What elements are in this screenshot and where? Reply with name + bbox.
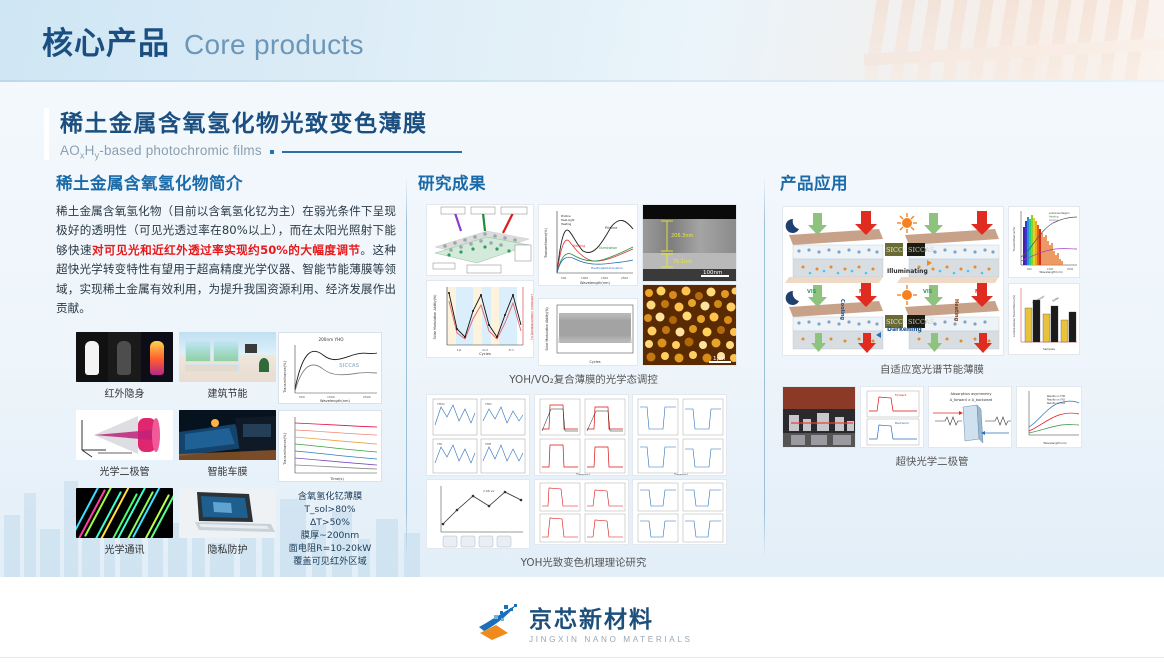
optical-communication-thumb — [76, 488, 173, 538]
svg-text:76.1nm: 76.1nm — [673, 259, 692, 265]
crystal-structure-schematic[interactable] — [426, 204, 534, 276]
svg-text:Time(ps): Time(ps) — [575, 473, 590, 476]
svg-text:2nd: 2nd — [482, 348, 488, 352]
svg-text:1st: 1st — [457, 348, 462, 352]
section-subtitle-row: AOxHy-based photochromic films — [60, 143, 462, 161]
svg-text:1μm: 1μm — [713, 356, 725, 362]
thumbnail-caption: 光学二极管 — [76, 460, 173, 485]
svg-text:NIR: NIR — [975, 289, 985, 295]
afm-surface-image[interactable]: 1μm — [642, 284, 737, 366]
svg-text:Forward: Forward — [895, 393, 906, 397]
svg-text:1500: 1500 — [1047, 268, 1054, 271]
application-figure-group: SICCAS SICCAS SICCAS SICCAS — [782, 206, 1082, 468]
forward-backward-signal-plot[interactable]: Forward Backward — [860, 386, 924, 448]
svg-text:SICCAS: SICCAS — [908, 246, 934, 254]
svg-text:Darkening: Darkening — [887, 326, 922, 333]
thumbnail-caption: 红外隐身 — [76, 382, 173, 407]
svg-text:1000: 1000 — [581, 276, 588, 280]
thumbnail-cell[interactable]: 光学二极管 — [76, 410, 173, 485]
svg-text:1500: 1500 — [601, 276, 608, 280]
svg-text:Cooling: Cooling — [839, 299, 845, 321]
svg-text:2500: 2500 — [621, 276, 628, 280]
thumbnail-caption: 光学通讯 — [76, 538, 173, 563]
experimental-setup-photo[interactable] — [782, 386, 856, 448]
application-thumbnail-grid: 红外隐身 建筑节能 — [76, 332, 276, 566]
svg-text:Luminous Transmittance(%): Luminous Transmittance(%) — [530, 294, 534, 340]
svg-text:YHO: YHO — [485, 402, 492, 406]
column-divider-2 — [764, 176, 765, 558]
defect-formation-energy-plot[interactable]: 2.68 eV — [426, 479, 530, 549]
svg-text:Transmittance(%): Transmittance(%) — [1012, 227, 1016, 253]
atomic-model-diagram[interactable] — [632, 479, 727, 545]
svg-text:VIS: VIS — [923, 289, 933, 295]
research-figure-1-caption: YOH/VO₂复合薄膜的光学态调控 — [426, 371, 741, 386]
svg-text:3rd: 3rd — [509, 348, 514, 352]
svg-text:Wavelength(nm): Wavelength(nm) — [1043, 441, 1066, 445]
privacy-protection-thumb — [179, 488, 276, 538]
application-figure-2-caption: 超快光学二极管 — [782, 453, 1082, 468]
column-product-applications: 产品应用 — [780, 170, 1130, 194]
page-title-en: Core products — [184, 29, 364, 61]
paragraph-highlight: 对可见光和近红外透过率实现约50%的大幅度调节 — [92, 243, 360, 257]
application-figure-1-caption: 自适应宽光谱节能薄膜 — [782, 361, 1082, 376]
spec-line: 面电阻R=10-20kW — [278, 542, 382, 555]
absorption-asymmetry-schematic[interactable]: Absorption asymmetry A_forward ≠ A_backw… — [928, 386, 1012, 448]
svg-text:YH₃: YH₃ — [437, 442, 443, 446]
svg-text:Transmittance(%): Transmittance(%) — [544, 227, 548, 259]
logo-name-en: JINGXIN NANO MATERIALS — [529, 635, 693, 644]
slide-header: 核心产品 Core products — [0, 0, 1164, 82]
sem-cross-section-image[interactable]: 206.3nm 76.1nm 100nm — [642, 204, 737, 282]
svg-text:206.3nm: 206.3nm — [671, 233, 693, 239]
asymmetry-spectrum-plot[interactable]: Results on YHO Results on YH2 Results on… — [1016, 386, 1082, 448]
svg-text:Heating: Heating — [561, 222, 572, 226]
svg-text:YOH: YOH — [485, 442, 491, 446]
svg-text:500: 500 — [1027, 268, 1032, 271]
spec-line: 含氧氢化钇薄膜 — [278, 490, 382, 503]
research-figure-group: Solar Modulation Ability(%) Luminous Tra… — [426, 204, 741, 569]
svg-text:200nm YHO: 200nm YHO — [318, 337, 344, 342]
thumbnail-caption: 智能车膜 — [179, 460, 276, 485]
section-accent-bar — [44, 108, 49, 160]
column-divider-1 — [406, 176, 407, 558]
footer-divider — [0, 657, 1164, 658]
spec-line: 覆盖可见红外区域 — [278, 555, 382, 568]
svg-text:2.68 eV: 2.68 eV — [483, 489, 495, 493]
thumbnail-cell[interactable]: 隐私防护 — [179, 488, 276, 563]
section-title-en: AOxHy-based photochromic films — [60, 143, 262, 161]
long-term-cycling-plot[interactable]: Solar Modulation Ability(%) Cycles — [538, 298, 638, 366]
thumbnail-caption: 隐私防护 — [179, 538, 276, 563]
svg-text:Cycles: Cycles — [589, 360, 600, 364]
svg-text:VIS: VIS — [807, 289, 817, 295]
svg-text:Backward: Backward — [895, 421, 909, 425]
svg-text:Time(ps): Time(ps) — [673, 473, 688, 476]
logo-text-block: 京芯新材料 JINGXIN NANO MATERIALS — [529, 600, 693, 644]
column-heading-introduction: 稀土金属含氧氢化物简介 — [56, 170, 396, 194]
smart-car-film-thumb — [179, 410, 276, 460]
svg-text:Cooling: Cooling — [1049, 219, 1058, 222]
svg-text:Heating: Heating — [573, 244, 585, 248]
column-introduction: 稀土金属含氧氢化物简介 稀土金属含氧氢化物（目前以含氧氢化钇为主）在弱光条件下呈… — [56, 170, 396, 319]
svg-text:Pristine: Pristine — [561, 214, 571, 218]
spec-line: 膜厚~200nm — [278, 529, 382, 542]
spec-line: ΔT>50% — [278, 516, 382, 529]
page-title: 核心产品 Core products — [42, 18, 364, 63]
column-heading-applications: 产品应用 — [780, 170, 1130, 194]
thumbnail-cell[interactable]: 光学通讯 — [76, 488, 173, 563]
research-figure-1[interactable]: Solar Modulation Ability(%) Luminous Tra… — [426, 204, 741, 386]
svg-text:Illuminating: Illuminating — [887, 268, 928, 275]
svg-text:NIR: NIR — [859, 289, 869, 295]
company-logo[interactable]: 京芯新材料 JINGXIN NANO MATERIALS — [478, 600, 693, 644]
spec-column: 200nm YHO Transmittance(%) Wavelength(nm… — [278, 332, 382, 568]
spec-chart-transmittance-spectrum[interactable]: 200nm YHO Transmittance(%) Wavelength(nm… — [278, 332, 382, 404]
svg-text:Heat.Light: Heat.Light — [561, 218, 574, 222]
spec-chart-transmittance-time[interactable]: Transmittance(%) Time(s) — [278, 410, 382, 482]
svg-text:Solar Modulation Ability(%): Solar Modulation Ability(%) — [545, 307, 549, 350]
svg-text:Transmittance(%): Transmittance(%) — [283, 433, 287, 466]
thumbnail-cell[interactable]: 建筑节能 — [179, 332, 276, 407]
cycling-modulation-plot[interactable]: Solar Modulation Ability(%) Luminous Tra… — [426, 280, 534, 358]
time-resolved-signal-grid-2[interactable]: Time(ps) — [632, 394, 727, 476]
svg-text:Absorption asymmetry: Absorption asymmetry — [950, 392, 992, 396]
spec-line: T_sol>80% — [278, 503, 382, 516]
svg-text:Samples: Samples — [1043, 347, 1055, 351]
smart-window-mechanism-diagram[interactable]: SICCAS SICCAS SICCAS SICCAS — [782, 206, 1004, 356]
section-line-dot — [270, 150, 274, 154]
svg-text:Wavelength(nm): Wavelength(nm) — [580, 281, 610, 285]
column-heading-research: 研究成果 — [418, 170, 748, 194]
section-title-cn: 稀土金属含氧氢化物光致变色薄膜 — [60, 104, 462, 138]
luminous-transmittance-bar-chart[interactable]: Luminous Solar Samples Luminous/solar Tr… — [1008, 283, 1080, 355]
application-figure-2[interactable]: Forward Backward Absorption asymmetry A_… — [782, 386, 1082, 468]
solar-spectrum-plot[interactable]: Luminous Region Heating Cooling Waveleng… — [1008, 206, 1080, 278]
svg-text:Solar Modulation Ability(%): Solar Modulation Ability(%) — [433, 295, 437, 340]
thumbnail-row: 红外隐身 建筑节能 — [76, 332, 276, 407]
svg-text:2500: 2500 — [363, 395, 371, 399]
thumbnail-cell[interactable]: 红外隐身 — [76, 332, 173, 407]
time-resolved-signal-grid[interactable]: Time(ps) — [534, 394, 629, 476]
thumbnail-caption: 建筑节能 — [179, 382, 276, 407]
svg-text:SICCAS: SICCAS — [339, 363, 360, 369]
columns-building-watermark — [864, 0, 1164, 82]
svg-text:SICCAS: SICCAS — [908, 318, 934, 326]
page-title-cn: 核心产品 — [42, 18, 170, 63]
transmittance-spectra-plot[interactable]: Pristine Illumination Heating Heating&Il… — [538, 204, 638, 286]
building-energy-thumb — [179, 332, 276, 382]
svg-text:2500: 2500 — [1067, 268, 1074, 271]
svg-text:A_forward ≠ A_backward: A_forward ≠ A_backward — [950, 398, 992, 402]
svg-text:Time(s): Time(s) — [329, 477, 344, 481]
infrared-stealth-thumb — [76, 332, 173, 382]
svg-text:YH₂O: YH₂O — [437, 402, 445, 406]
signal-decay-grid[interactable] — [534, 479, 629, 545]
optical-diode-thumb — [76, 410, 173, 460]
slide-root: 核心产品 Core products — [0, 0, 1164, 663]
svg-text:Luminous/solar Transmittance(%: Luminous/solar Transmittance(%) — [1012, 295, 1016, 337]
svg-text:Cycles: Cycles — [479, 352, 491, 356]
svg-text:Results on VO2: Results on VO2 — [1047, 402, 1066, 405]
spec-text-block: 含氧氢化钇薄膜 T_sol>80% ΔT>50% 膜厚~200nm 面电阻R=1… — [278, 488, 382, 568]
svg-text:Pristine: Pristine — [605, 226, 617, 230]
research-figure-2[interactable]: YH₂OYHO YH₃YOH — [426, 394, 741, 569]
introduction-paragraph: 稀土金属含氧氢化物（目前以含氧氢化钇为主）在弱光条件下呈现极好的透明性（可见光透… — [56, 202, 396, 319]
svg-text:Wavelength(nm): Wavelength(nm) — [320, 399, 350, 403]
svg-text:Transmittance(%): Transmittance(%) — [283, 361, 287, 394]
column-research-results: 研究成果 — [418, 170, 748, 194]
svg-text:1500: 1500 — [327, 395, 335, 399]
thumbnail-cell[interactable]: 智能车膜 — [179, 410, 276, 485]
arrow-swoosh-logo-icon — [478, 603, 520, 641]
svg-text:Heating: Heating — [953, 299, 959, 322]
thumbnail-row: 光学通讯 隐私防护 — [76, 488, 276, 563]
research-figure-2-caption: YOH光致变色机理理论研究 — [426, 554, 741, 569]
application-figure-1[interactable]: SICCAS SICCAS SICCAS SICCAS — [782, 206, 1082, 376]
thumbnail-row: 光学二极管 智能车膜 — [76, 410, 276, 485]
section-title-block: 稀土金属含氧氢化物光致变色薄膜 AOxHy-based photochromic… — [44, 104, 462, 161]
svg-text:100nm: 100nm — [703, 270, 722, 276]
dos-band-structure-grid[interactable]: YH₂OYHO YH₃YOH — [426, 394, 530, 476]
svg-text:Illumination: Illumination — [599, 246, 617, 250]
svg-text:500: 500 — [299, 395, 305, 399]
logo-name-cn: 京芯新材料 — [529, 600, 693, 634]
section-underline — [282, 151, 462, 153]
svg-text:Heating&Illumination: Heating&Illumination — [591, 266, 623, 270]
svg-text:500: 500 — [561, 276, 567, 280]
